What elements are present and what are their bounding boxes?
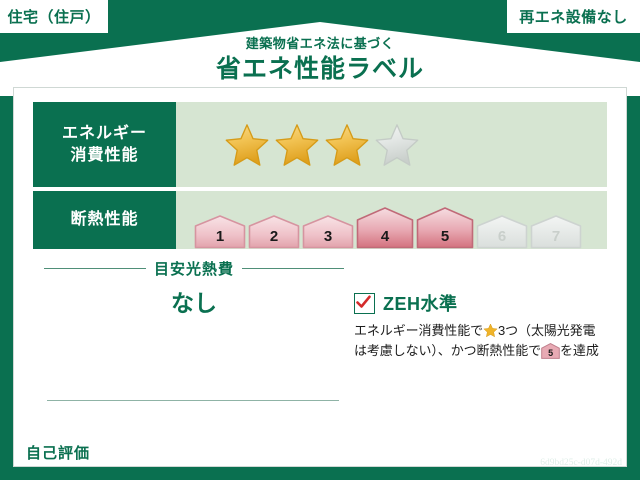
energy-label-root: 住宅（住戸） 再エネ設備なし 建築物省エネ法に基づく 省エネ性能ラベル エネルギ… (0, 0, 640, 480)
utility-cost-bottom-rule (47, 400, 339, 401)
self-evaluation-badge: 自己評価 (19, 440, 97, 465)
insulation-grade-number: 3 (302, 228, 354, 245)
insulation-grade-4: 4 (356, 207, 414, 249)
self-evaluation-row: 自己評価 4349会津若松市城西町2期1棟1号棟 (19, 440, 310, 465)
insulation-grade-number: 4 (356, 228, 414, 245)
insulation-grade-1: 1 (194, 215, 246, 249)
inline-house-icon: 5 (541, 343, 560, 359)
tag-renewable-energy: 再エネ設備なし (507, 0, 640, 33)
zeh-heading: ZEH水準 (354, 290, 616, 316)
tag-building-type: 住宅（住戸） (0, 0, 108, 33)
inline-house-number: 5 (541, 349, 560, 358)
energy-star-rating (176, 102, 607, 187)
insulation-grade-7: 7 (530, 215, 582, 249)
insulation-performance-label: 断熱性能 (33, 191, 176, 249)
body-panel: エネルギー 消費性能 断熱性能 1234567 目安光熱費 なし (14, 88, 626, 466)
zeh-desc-part2: は考慮しない）、かつ断熱性能で (354, 343, 541, 358)
evaluation-id: 6d9bd25c-d07d-492d (472, 458, 622, 468)
insulation-performance-row: 断熱性能 1234567 (33, 191, 607, 249)
insulation-performance-label-line1: 断熱性能 (70, 209, 138, 231)
utility-cost-heading-label: 目安光熱費 (154, 258, 234, 279)
inline-star-icon (483, 323, 498, 338)
zeh-desc-part1: エネルギー消費性能で (354, 323, 483, 338)
heading-rule-right (242, 268, 344, 269)
star-filled-icon (274, 122, 320, 168)
zeh-description: エネルギー消費性能で 3つ（太陽光発電 は考慮しない）、かつ断熱性能で 5 を達… (354, 321, 616, 361)
evaluation-date-block: 評価日 2025年10月28日 6d9bd25c-d07d-492d (472, 436, 622, 468)
building-name: 4349会津若松市城西町2期1棟1号棟 (103, 443, 310, 462)
insulation-grade-3: 3 (302, 215, 354, 249)
insulation-grade-number: 6 (476, 228, 528, 245)
insulation-grade-number: 1 (194, 228, 246, 245)
insulation-grade-5: 5 (416, 207, 474, 249)
heading-rule-left (44, 268, 146, 269)
evaluation-date: 評価日 2025年10月28日 (472, 436, 622, 456)
title-block: 建築物省エネ法に基づく 省エネ性能ラベル (0, 36, 640, 85)
energy-performance-label: エネルギー 消費性能 (33, 102, 176, 187)
zeh-standard-block: ZEH水準 エネルギー消費性能で 3つ（太陽光発電 は考慮しない）、かつ断熱性能… (354, 290, 616, 361)
zeh-checkbox[interactable] (354, 293, 375, 314)
zeh-desc-part3: を達成 (560, 343, 599, 358)
page-title: 省エネ性能ラベル (0, 54, 640, 85)
energy-performance-label-line2: 消費性能 (70, 145, 138, 167)
insulation-grade-scale: 1234567 (176, 191, 607, 249)
check-icon (356, 295, 371, 310)
tag-renewable-energy-label: 再エネ設備なし (519, 6, 628, 27)
title-subtitle: 建築物省エネ法に基づく (0, 36, 640, 52)
insulation-grade-6: 6 (476, 215, 528, 249)
energy-performance-row: エネルギー 消費性能 (33, 102, 607, 187)
utility-cost-heading: 目安光熱費 (44, 258, 344, 279)
energy-performance-label-line1: エネルギー (62, 123, 147, 145)
tag-building-type-label: 住宅（住戸） (7, 6, 100, 27)
insulation-grade-number: 7 (530, 228, 582, 245)
star-filled-icon (224, 122, 270, 168)
zeh-title: ZEH水準 (383, 290, 458, 316)
star-filled-icon (324, 122, 370, 168)
zeh-desc-star-count: 3つ（太陽光発電 (498, 323, 595, 338)
insulation-grade-2: 2 (248, 215, 300, 249)
insulation-grade-number: 2 (248, 228, 300, 245)
utility-cost-value: なし (44, 284, 344, 318)
star-empty-icon (374, 122, 420, 168)
insulation-grade-number: 5 (416, 228, 474, 245)
